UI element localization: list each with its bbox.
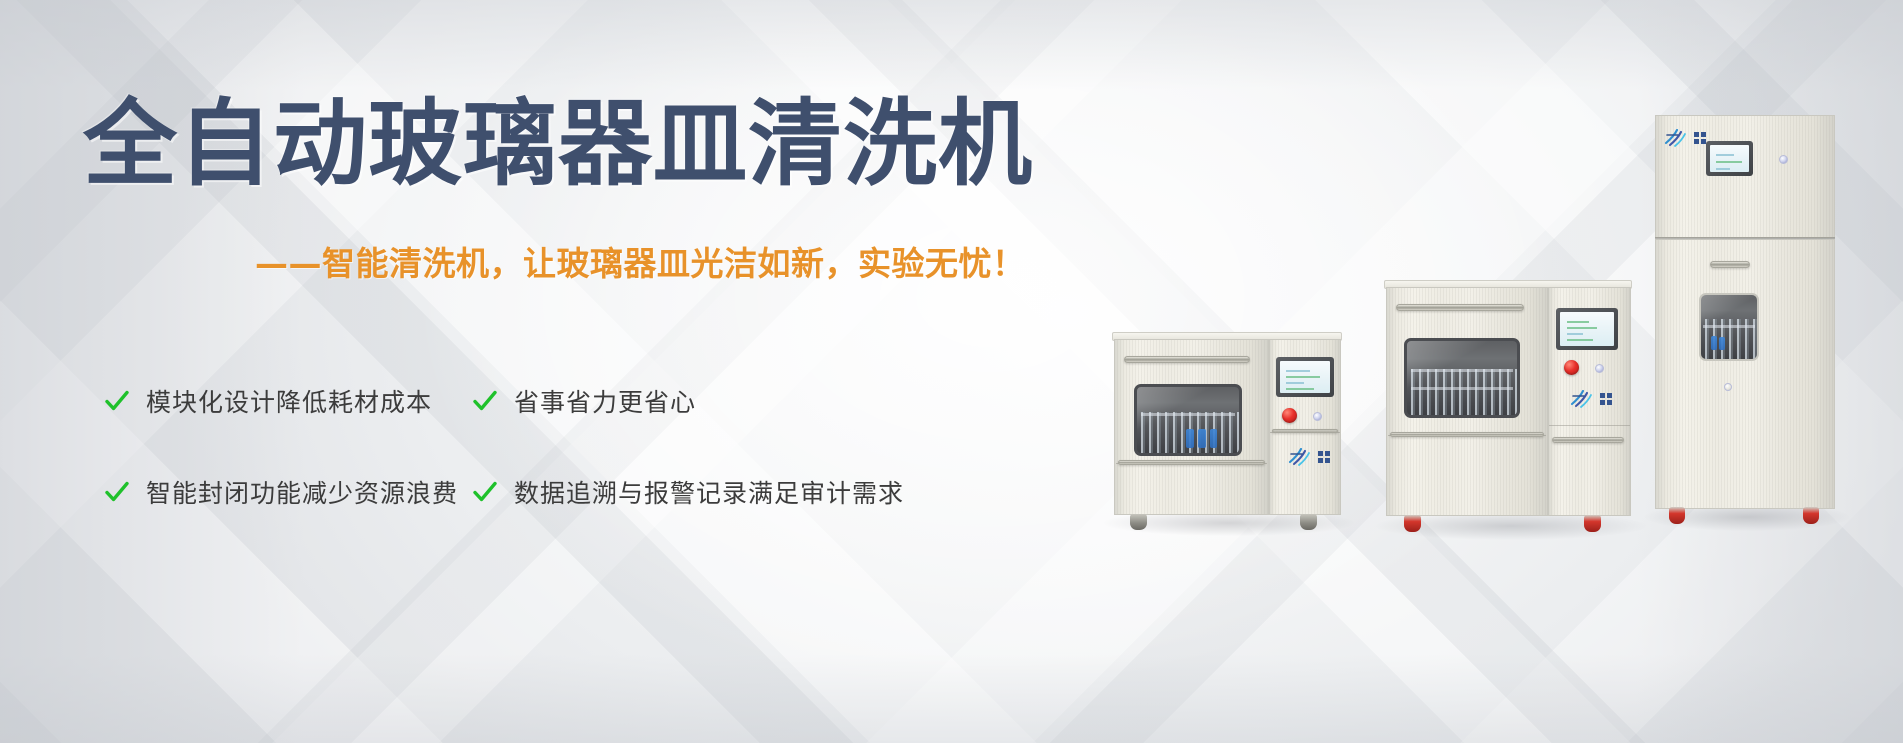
touchscreen-panel[interactable] bbox=[1706, 141, 1753, 176]
screen-row bbox=[1567, 327, 1597, 329]
logo-dot-grid bbox=[1600, 393, 1612, 405]
brand-logo bbox=[1570, 390, 1612, 408]
logo-dot bbox=[1325, 458, 1330, 463]
product-tall-column-glassware-washer[interactable] bbox=[1655, 115, 1835, 515]
logo-dot bbox=[1607, 400, 1612, 405]
service-panel-handle[interactable] bbox=[1552, 437, 1624, 443]
logo-dot-grid bbox=[1318, 451, 1330, 463]
caster-wheel bbox=[1669, 507, 1685, 524]
screen-row bbox=[1286, 388, 1314, 390]
glassware-load bbox=[1407, 369, 1517, 415]
promo-banner: 全自动玻璃器皿清洗机 ——智能清洗机，让玻璃器皿光洁如新，实验无忧！ 模块化设计… bbox=[0, 0, 1903, 743]
glassware-shelf bbox=[1411, 369, 1512, 372]
blue-glassware bbox=[1711, 336, 1717, 350]
lower-drawer-handle[interactable] bbox=[1118, 460, 1265, 465]
logo-dot-grid bbox=[1694, 132, 1706, 144]
logo-dot bbox=[1694, 132, 1699, 137]
viewing-window bbox=[1699, 293, 1759, 361]
feature-label: 省事省力更省心 bbox=[514, 383, 696, 419]
logo-dot bbox=[1325, 451, 1330, 456]
logo-dot bbox=[1600, 400, 1605, 405]
glassware-shelf bbox=[1411, 387, 1512, 390]
banner-copy: 全自动玻璃器皿清洗机 ——智能清洗机，让玻璃器皿光洁如新，实验无忧！ 模块化设计… bbox=[0, 0, 1100, 743]
blue-glassware bbox=[1719, 337, 1725, 350]
emergency-stop-button[interactable] bbox=[1564, 360, 1579, 375]
screen-row bbox=[1567, 321, 1589, 323]
door-handle[interactable] bbox=[1124, 356, 1250, 363]
machine-lower-cabinet bbox=[1655, 239, 1835, 509]
caster-wheel bbox=[1130, 514, 1147, 530]
screen-row bbox=[1567, 339, 1593, 341]
screen-row bbox=[1286, 382, 1304, 384]
service-panel-handle[interactable] bbox=[1272, 429, 1338, 433]
screen-row bbox=[1716, 168, 1730, 170]
screen-row bbox=[1716, 154, 1734, 156]
feature-label: 智能封闭功能减少资源浪费 bbox=[146, 474, 458, 510]
hw-logo-icon bbox=[1570, 390, 1596, 408]
screen-row bbox=[1286, 376, 1320, 378]
door-handle[interactable] bbox=[1710, 261, 1750, 268]
door-latch-button[interactable] bbox=[1724, 383, 1732, 391]
logo-dot bbox=[1701, 132, 1706, 137]
logo-dot bbox=[1694, 139, 1699, 144]
caster-wheel bbox=[1803, 507, 1819, 524]
logo-dot bbox=[1600, 393, 1605, 398]
hw-logo-icon bbox=[1288, 448, 1314, 466]
hw-logo-icon bbox=[1664, 129, 1690, 147]
door-handle[interactable] bbox=[1396, 304, 1524, 311]
blue-glassware bbox=[1210, 429, 1217, 447]
touchscreen-display bbox=[1280, 361, 1330, 393]
caster-wheel bbox=[1300, 514, 1317, 530]
product-undercounter-glassware-washer[interactable] bbox=[1112, 332, 1342, 522]
check-icon bbox=[104, 479, 130, 505]
brand-logo bbox=[1664, 129, 1706, 147]
screen-row bbox=[1716, 161, 1742, 163]
logo-dot bbox=[1318, 458, 1323, 463]
caster-wheel bbox=[1404, 515, 1421, 532]
power-button[interactable] bbox=[1313, 412, 1322, 421]
page-subtitle: ——智能清洗机，让玻璃器皿光洁如新，实验无忧！ bbox=[255, 237, 1026, 285]
feature-item-4: 数据追溯与报警记录满足审计需求 bbox=[472, 474, 1004, 510]
brand-logo bbox=[1288, 448, 1330, 466]
screen-row bbox=[1567, 333, 1583, 335]
power-button[interactable] bbox=[1595, 364, 1604, 373]
logo-dot bbox=[1607, 393, 1612, 398]
touchscreen-display bbox=[1710, 145, 1749, 172]
product-freestanding-glassware-washer[interactable] bbox=[1384, 280, 1632, 525]
caster-wheel bbox=[1584, 515, 1601, 532]
feature-label: 模块化设计降低耗材成本 bbox=[146, 383, 432, 419]
panel-seam bbox=[1549, 425, 1630, 426]
check-icon bbox=[104, 388, 130, 414]
emergency-stop-button[interactable] bbox=[1282, 408, 1297, 423]
logo-dot bbox=[1318, 451, 1323, 456]
glassware-shelf bbox=[1141, 413, 1235, 416]
page-title: 全自动玻璃器皿清洗机 bbox=[83, 96, 1033, 195]
lower-drawer-handle[interactable] bbox=[1390, 432, 1544, 437]
feature-list: 模块化设计降低耗材成本 省事省力更省心 智能封闭功能减少资源浪费 数据追溯与报警… bbox=[104, 383, 1004, 510]
viewing-window bbox=[1404, 338, 1520, 418]
feature-item-3: 智能封闭功能减少资源浪费 bbox=[104, 474, 472, 510]
blue-glassware bbox=[1198, 429, 1206, 447]
touchscreen-panel[interactable] bbox=[1556, 308, 1618, 350]
blue-glassware bbox=[1186, 429, 1194, 447]
glassware-shelf bbox=[1703, 325, 1755, 328]
brushed-texture bbox=[1656, 240, 1834, 508]
check-icon bbox=[472, 479, 498, 505]
power-button[interactable] bbox=[1779, 155, 1788, 164]
touchscreen-display bbox=[1560, 312, 1614, 346]
screen-row bbox=[1286, 370, 1310, 372]
viewing-window bbox=[1134, 384, 1242, 456]
touchscreen-panel[interactable] bbox=[1276, 357, 1334, 397]
feature-item-2: 省事省力更省心 bbox=[472, 383, 1004, 419]
check-icon bbox=[472, 388, 498, 414]
feature-label: 数据追溯与报警记录满足审计需求 bbox=[514, 474, 904, 510]
feature-item-1: 模块化设计降低耗材成本 bbox=[104, 383, 472, 419]
